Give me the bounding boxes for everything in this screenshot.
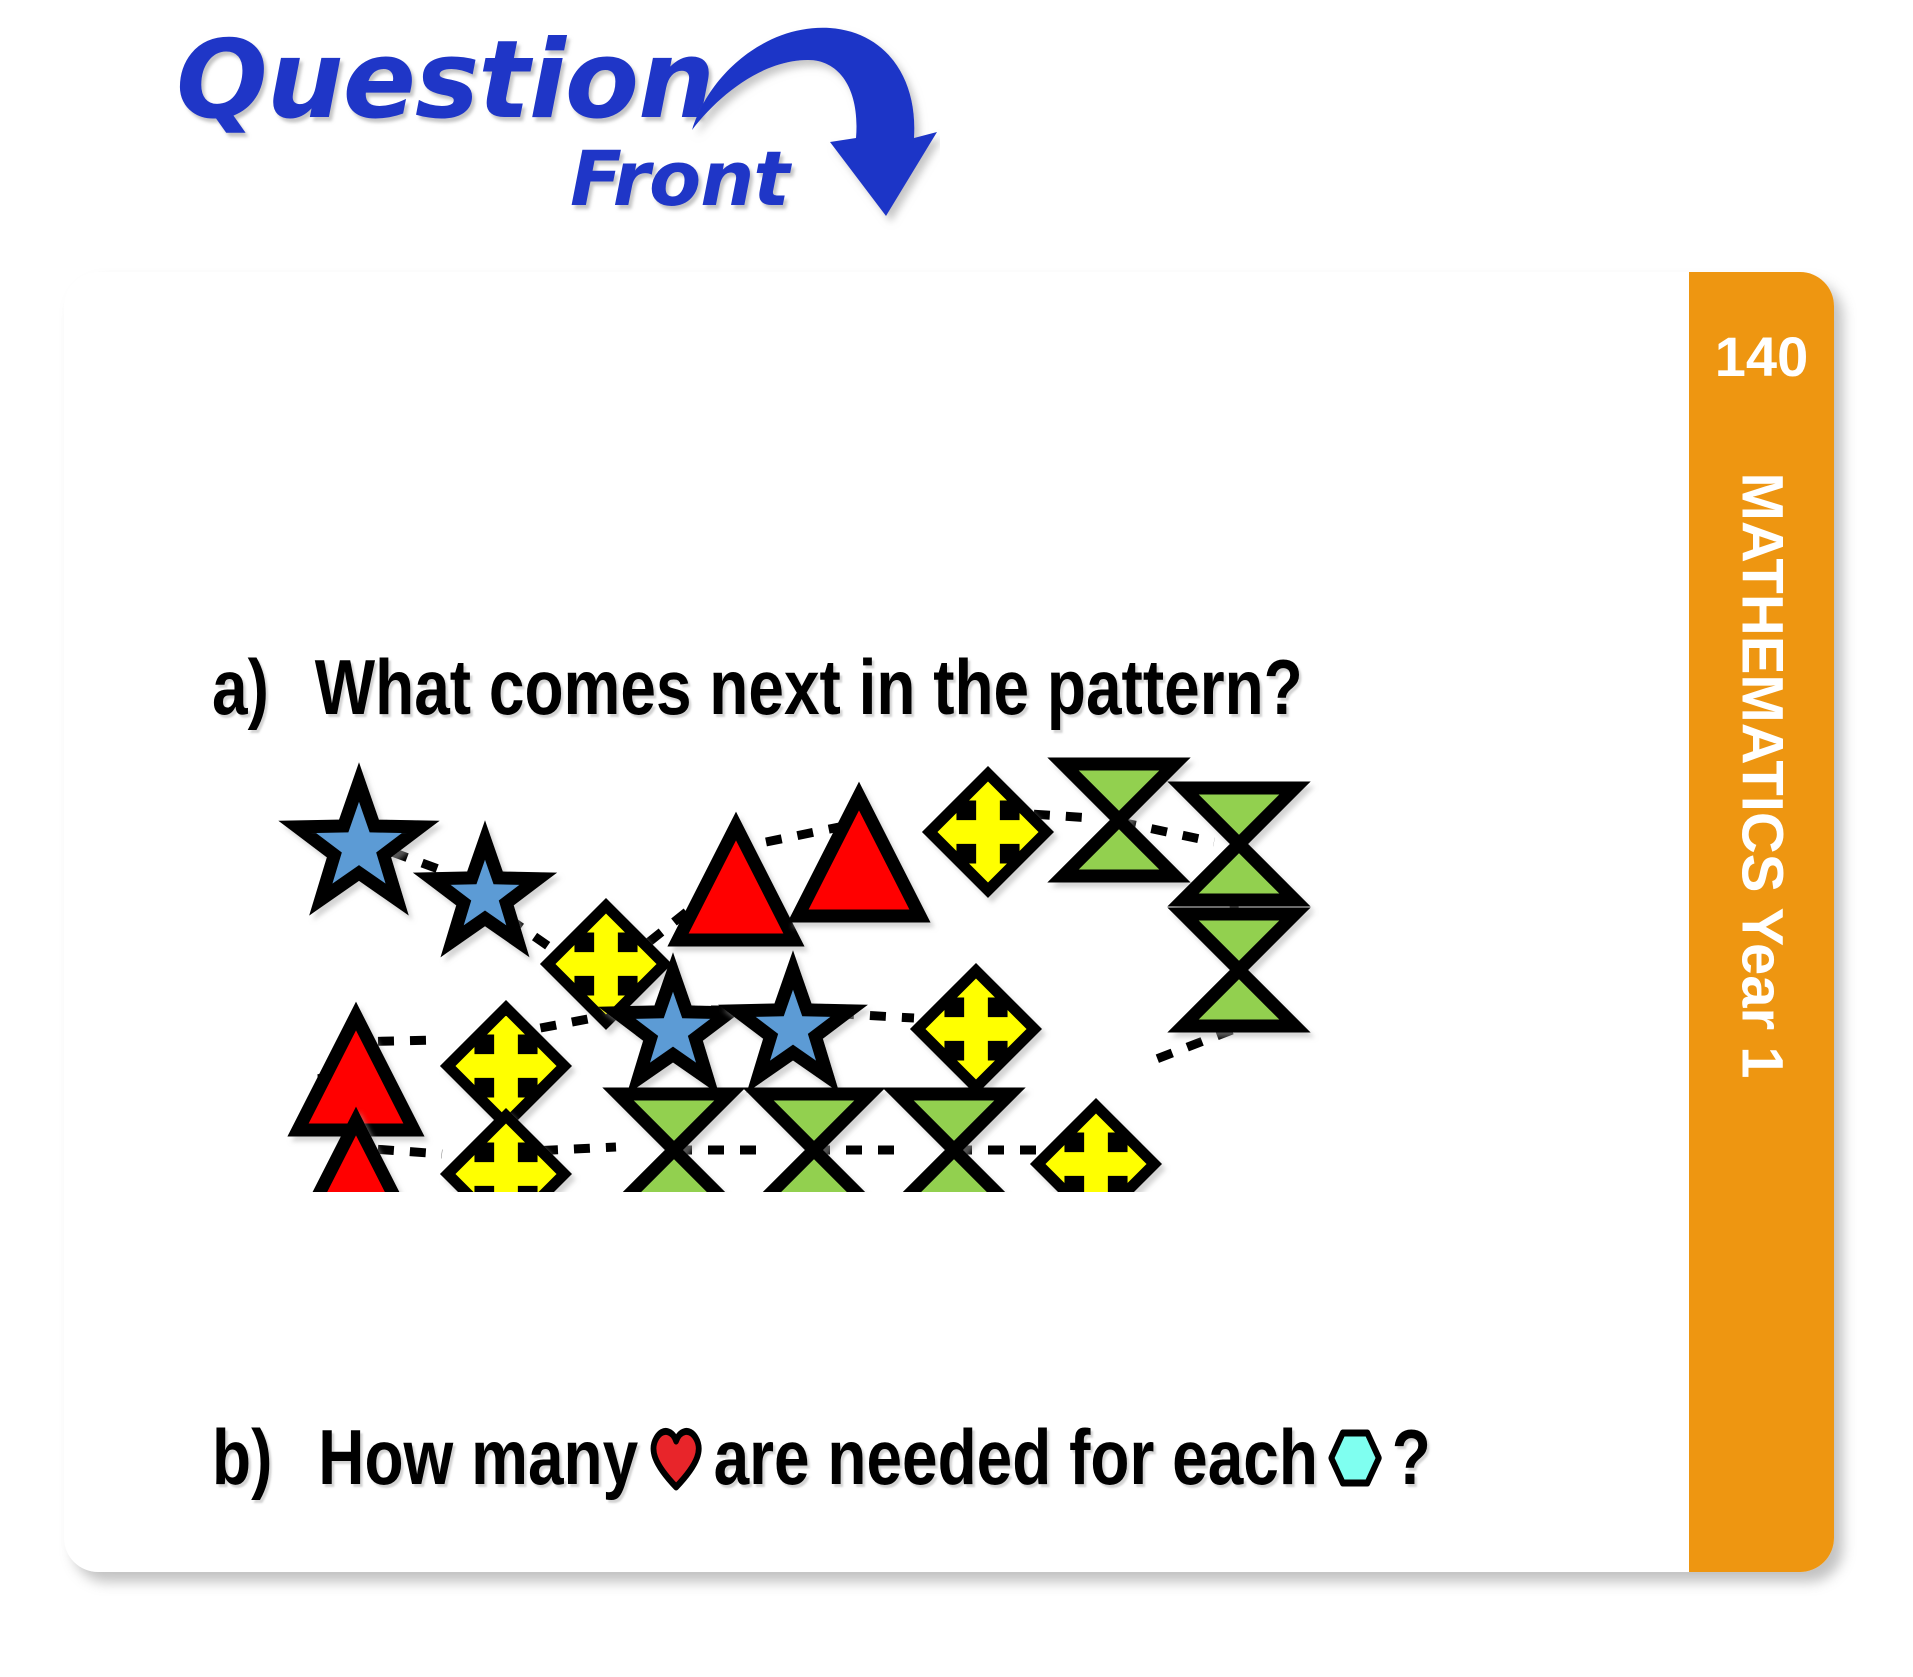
question-b: b) How many are needed for each ? xyxy=(212,1412,1431,1503)
question-a-marker: a) xyxy=(212,642,269,733)
bead-chain-diagram xyxy=(204,1522,1664,1572)
question-a: a) What comes next in the pattern? xyxy=(212,642,1303,733)
card-content-area: a) What comes next in the pattern? xyxy=(64,272,1689,1572)
worksheet-card: a) What comes next in the pattern? xyxy=(64,272,1834,1572)
question-b-text-part-3: ? xyxy=(1392,1412,1431,1503)
pattern-shape-layer xyxy=(297,764,1295,1192)
hexagon-icon xyxy=(1326,1427,1383,1489)
triangle-shape xyxy=(798,796,920,916)
arrow-shape xyxy=(448,1116,565,1192)
subject-sidebar: 140 MATHEMATICS Year 1 xyxy=(1689,272,1834,1572)
bowtie-shape xyxy=(618,1094,730,1192)
question-b-text-part-1: How many xyxy=(318,1412,638,1503)
bowtie-shape xyxy=(1183,788,1295,900)
bowtie-shape xyxy=(1183,914,1295,1026)
annotation-question-label: Question xyxy=(176,18,714,143)
subject-title: MATHEMATICS Year 1 xyxy=(1728,473,1795,1079)
star-shape xyxy=(297,782,421,900)
arrow-shape xyxy=(548,906,665,1023)
page-number: 140 xyxy=(1689,324,1834,389)
annotation-group: Question Front xyxy=(0,0,1100,250)
bowtie-shape xyxy=(898,1094,1010,1192)
arrow-shape xyxy=(930,774,1047,891)
curved-down-arrow-icon xyxy=(690,20,940,240)
bowtie-shape xyxy=(758,1094,870,1192)
star-shape xyxy=(737,970,849,1077)
question-b-marker: b) xyxy=(212,1412,272,1503)
question-a-text: What comes next in the pattern? xyxy=(315,642,1303,733)
shape-pattern-diagram xyxy=(214,722,1634,1192)
arrow-shape xyxy=(918,971,1035,1088)
arrow-shape xyxy=(1038,1106,1155,1192)
heart-icon xyxy=(646,1425,705,1491)
question-b-text-part-2: are needed for each xyxy=(714,1412,1318,1503)
pattern-connector-row3 xyxy=(346,1147,1036,1154)
